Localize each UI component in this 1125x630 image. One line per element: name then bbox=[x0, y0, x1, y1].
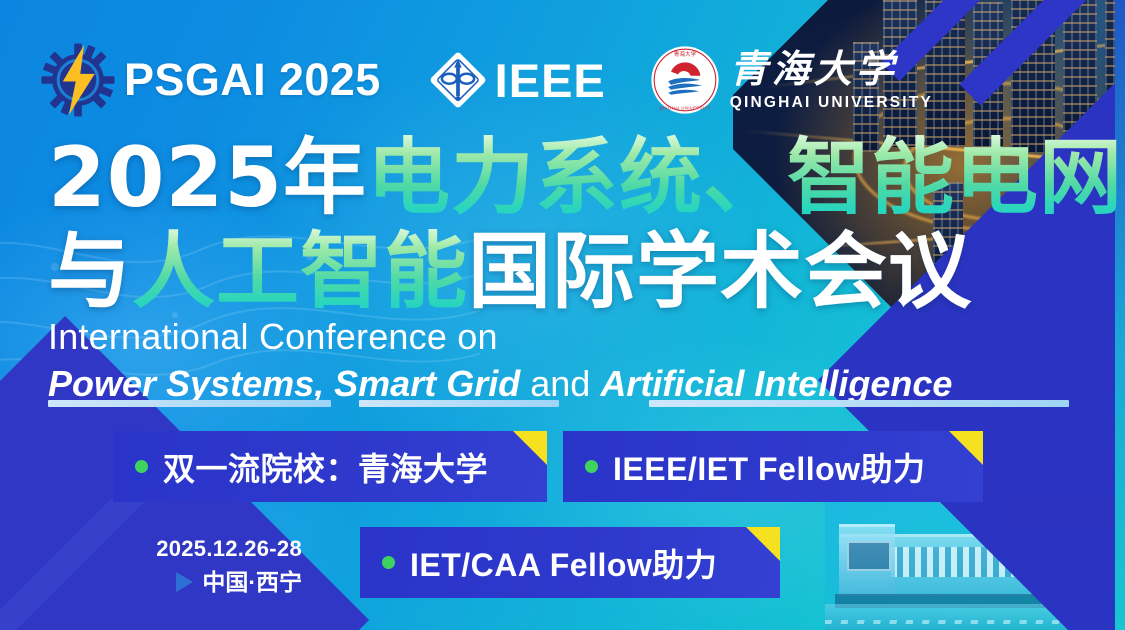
qinghai-university-names: 青海大学 QINGHAI UNIVERSITY bbox=[730, 50, 933, 111]
event-date-location: 2025.12.26-28 中国·西宁 bbox=[112, 535, 302, 597]
train-photo bbox=[825, 480, 1125, 630]
event-location-row: 中国·西宁 bbox=[112, 567, 302, 597]
logo-row: PSGAI 2025 IEEE bbox=[40, 42, 933, 118]
event-date: 2025.12.26-28 bbox=[112, 535, 302, 563]
accent-stripe-top-right-1 bbox=[960, 0, 1125, 105]
ieee-logo: IEEE bbox=[427, 49, 606, 111]
yellow-corner-flag-icon bbox=[513, 431, 547, 465]
gear-lightning-icon bbox=[40, 42, 116, 118]
subtitle-topic-smartgrid: Smart Grid bbox=[334, 363, 520, 404]
underline-smart-grid bbox=[359, 400, 559, 407]
yellow-corner-flag-icon bbox=[746, 527, 780, 561]
qinghai-university-seal-icon: 青海大学 QINGHAI UNIVERSITY bbox=[650, 45, 720, 115]
subtitle-topic-ai: Artificial Intelligence bbox=[600, 363, 952, 404]
subtitle-conjunction: and bbox=[530, 363, 590, 404]
psgai-wordmark: PSGAI 2025 bbox=[124, 54, 381, 106]
qinghai-university-name-en: QINGHAI UNIVERSITY bbox=[730, 95, 933, 111]
underline-power-systems bbox=[48, 400, 331, 407]
feature-badge-ieee-iet-fellow[interactable]: IEEE/IET Fellow助力 bbox=[563, 431, 983, 502]
play-triangle-icon bbox=[176, 572, 193, 592]
qinghai-university-logo: 青海大学 QINGHAI UNIVERSITY 青海大学 QINGHAI UNI… bbox=[650, 45, 933, 115]
feature-badge-university[interactable]: 双一流院校：青海大学 bbox=[113, 431, 547, 502]
feature-badge-iet-caa-fellow[interactable]: IET/CAA Fellow助力 bbox=[360, 527, 780, 598]
ieee-wordmark: IEEE bbox=[495, 57, 606, 104]
title-conjunction: 与 bbox=[48, 223, 132, 320]
ieee-diamond-kite-icon bbox=[427, 49, 489, 111]
feature-badge-label: IET/CAA Fellow助力 bbox=[410, 540, 717, 586]
title-topics-2: 人工智能 bbox=[132, 223, 468, 320]
title-line-2: 与人工智能国际学术会议 bbox=[48, 225, 1123, 319]
underline-artificial-intelligence bbox=[649, 400, 1069, 407]
conference-title-cn: 2025年电力系统、智能电网 与人工智能国际学术会议 bbox=[48, 131, 1123, 319]
feature-badge-label: IEEE/IET Fellow助力 bbox=[613, 444, 926, 490]
green-bullet-icon bbox=[135, 460, 148, 473]
subtitle-topic-power: Power Systems, bbox=[48, 363, 324, 404]
svg-text:QINGHAI UNIVERSITY: QINGHAI UNIVERSITY bbox=[659, 105, 711, 110]
title-topics-1: 电力系统、智能电网 bbox=[367, 129, 1123, 226]
conference-banner: PSGAI 2025 IEEE bbox=[0, 0, 1125, 630]
title-line-1: 2025年电力系统、智能电网 bbox=[48, 131, 1123, 225]
feature-badge-label: 双一流院校：青海大学 bbox=[163, 444, 488, 490]
conference-subtitle-en: International Conference on Power System… bbox=[48, 315, 952, 407]
qinghai-university-name-cn: 青海大学 bbox=[730, 50, 933, 88]
event-location: 中国·西宁 bbox=[202, 567, 302, 597]
accent-block-bottom-right bbox=[1005, 496, 1125, 530]
subtitle-line-1: International Conference on bbox=[48, 315, 952, 359]
title-year: 2025年 bbox=[48, 129, 367, 226]
title-suffix: 国际学术会议 bbox=[468, 223, 972, 320]
green-bullet-icon bbox=[382, 556, 395, 569]
yellow-corner-flag-icon bbox=[949, 431, 983, 465]
green-bullet-icon bbox=[585, 460, 598, 473]
subtitle-underlines bbox=[48, 400, 1078, 407]
